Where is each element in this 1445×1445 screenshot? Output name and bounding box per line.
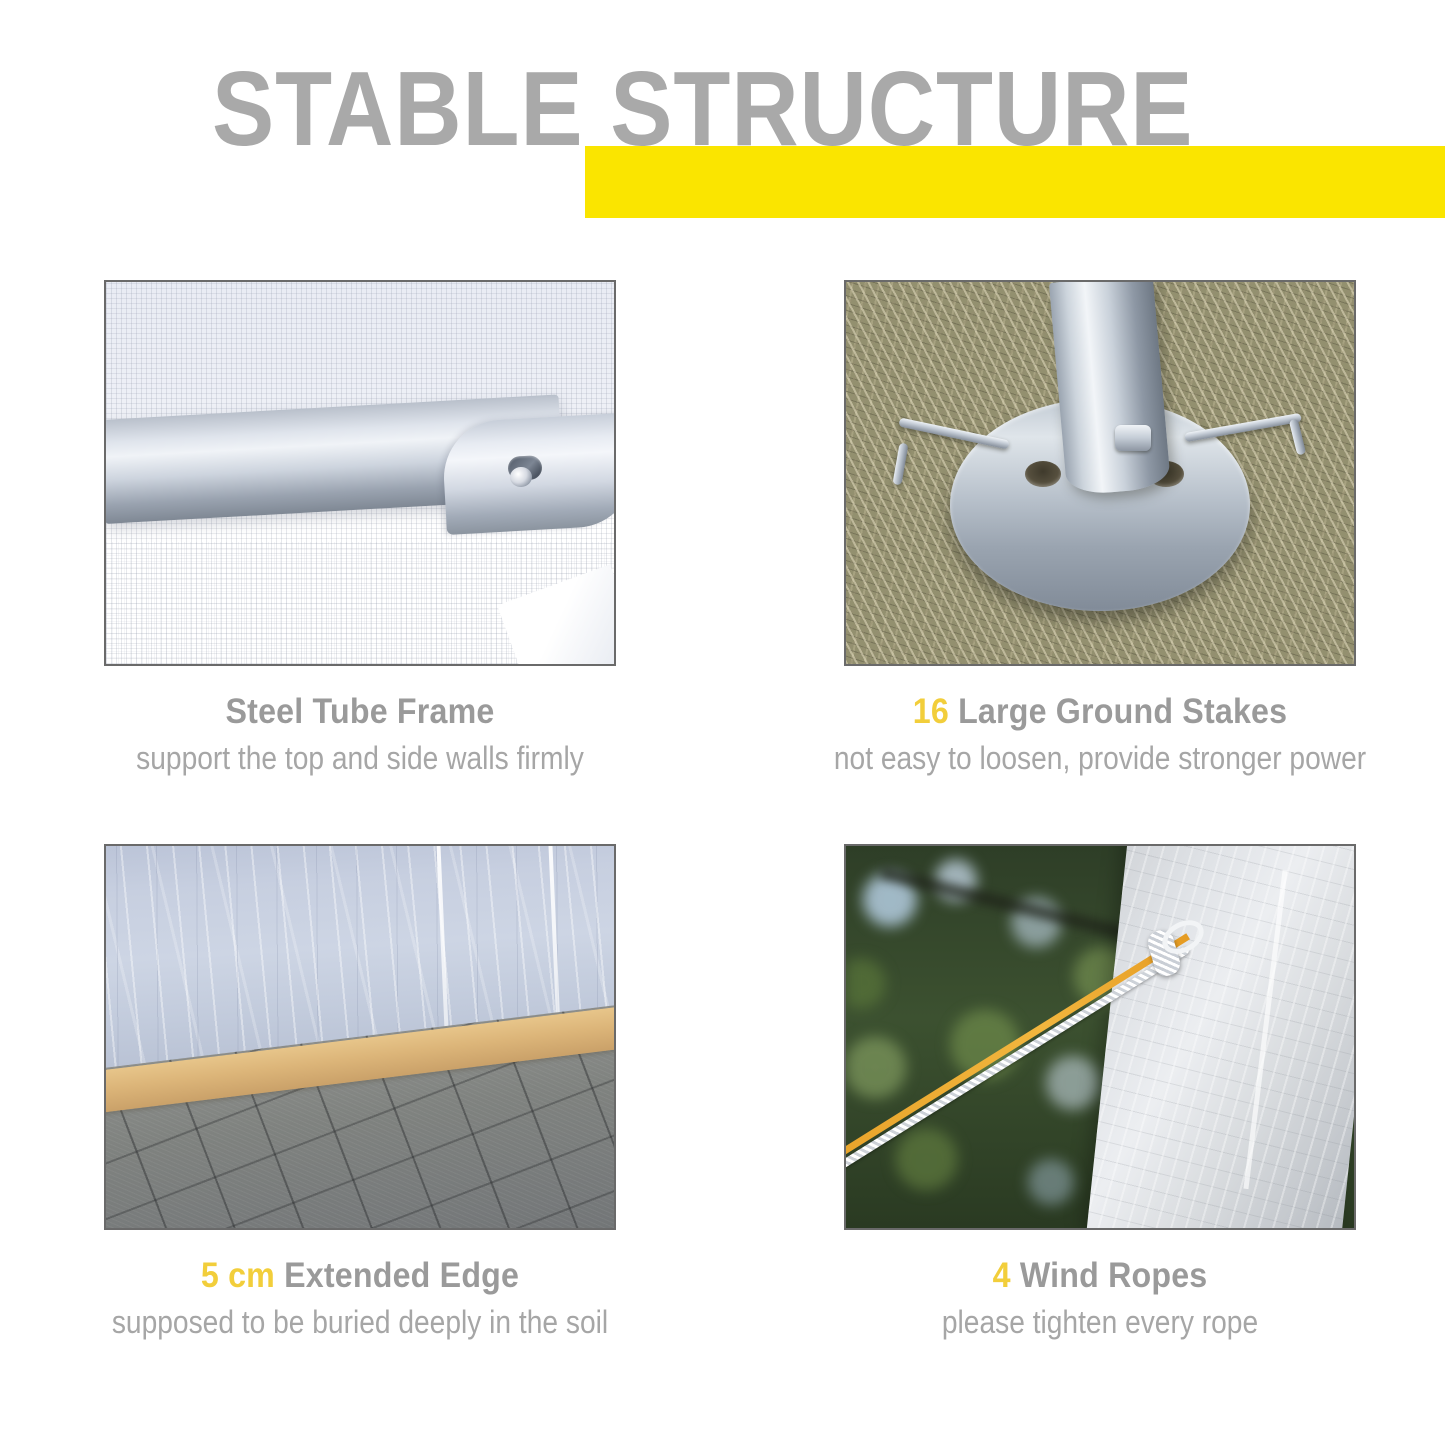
caption-title: Steel Tube Frame [75, 692, 645, 732]
caption-subtitle: support the top and side walls firmly [87, 740, 633, 777]
photo-extended-edge [104, 844, 616, 1230]
caption-title: 5 cm Extended Edge [75, 1256, 645, 1296]
caption-accent: 16 [913, 692, 949, 731]
caption-ground-stakes: 16 Large Ground Stakes not easy to loose… [790, 692, 1410, 777]
caption-accent: 4 [993, 1256, 1011, 1295]
caption-accent: 5 cm [201, 1256, 275, 1295]
page-title: STABLE STRUCTURE [212, 56, 1193, 162]
caption-wind-ropes: 4 Wind Ropes please tighten every rope [790, 1256, 1410, 1341]
caption-title: 16 Large Ground Stakes [815, 692, 1385, 732]
feature-card-steel-tube-frame: Steel Tube Frame support the top and sid… [50, 280, 670, 777]
caption-subtitle: not easy to loosen, provide stronger pow… [827, 740, 1373, 777]
photo-wind-ropes [844, 844, 1356, 1230]
caption-title-text: Large Ground Stakes [958, 692, 1287, 731]
caption-title-text: Steel Tube Frame [226, 692, 495, 731]
steel-pole-shape [1049, 280, 1171, 496]
tent-fabric-texture [1087, 844, 1356, 1230]
feature-card-extended-edge: 5 cm Extended Edge supposed to be buried… [50, 844, 670, 1341]
feature-card-wind-ropes: 4 Wind Ropes please tighten every rope [790, 844, 1410, 1341]
photo-steel-tube-frame [104, 280, 616, 666]
feature-grid: Steel Tube Frame support the top and sid… [0, 250, 1445, 1445]
caption-subtitle: supposed to be buried deeply in the soil [87, 1304, 633, 1341]
page-header: STABLE STRUCTURE [0, 0, 1445, 250]
caption-extended-edge: 5 cm Extended Edge supposed to be buried… [50, 1256, 670, 1341]
caption-title-text: Extended Edge [284, 1256, 519, 1295]
hex-nut-shape [1115, 425, 1151, 451]
photo-ground-stakes [844, 280, 1356, 666]
caption-subtitle: please tighten every rope [827, 1304, 1373, 1341]
caption-title: 4 Wind Ropes [815, 1256, 1385, 1296]
caption-steel-tube-frame: Steel Tube Frame support the top and sid… [50, 692, 670, 777]
feature-card-ground-stakes: 16 Large Ground Stakes not easy to loose… [790, 280, 1410, 777]
caption-title-text: Wind Ropes [1020, 1256, 1208, 1295]
base-plate-hole-left [1025, 461, 1061, 487]
